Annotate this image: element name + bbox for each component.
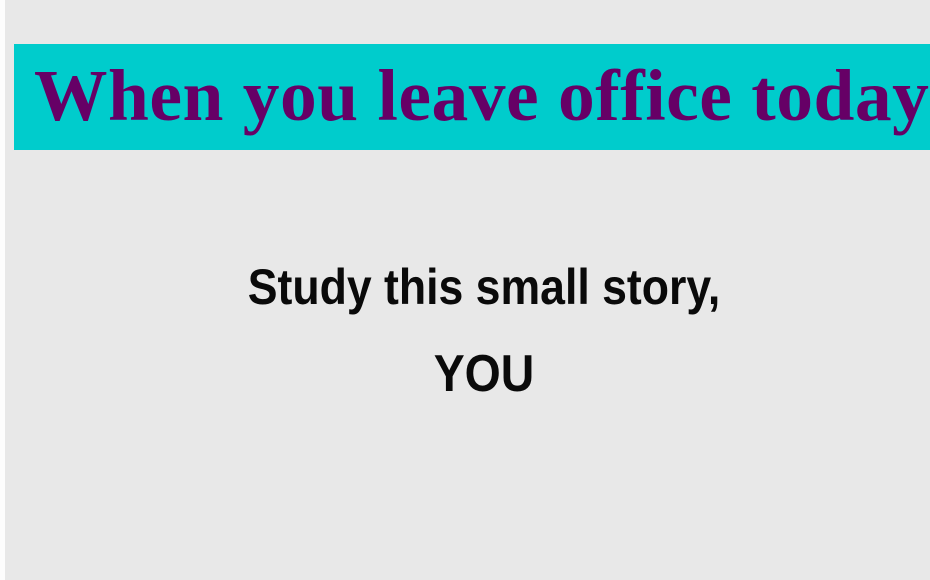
slide-title: When you leave office today (34, 59, 929, 133)
slide-body-text: Study this small story, Hope that makes … (40, 262, 928, 400)
title-banner: When you leave office today (14, 44, 930, 150)
body-line-1: Study this small story, (88, 262, 880, 312)
presentation-slide: When you leave office today Study this s… (0, 0, 930, 580)
body-line-3: YOU (88, 348, 880, 400)
slide-left-edge-strip (0, 0, 5, 580)
